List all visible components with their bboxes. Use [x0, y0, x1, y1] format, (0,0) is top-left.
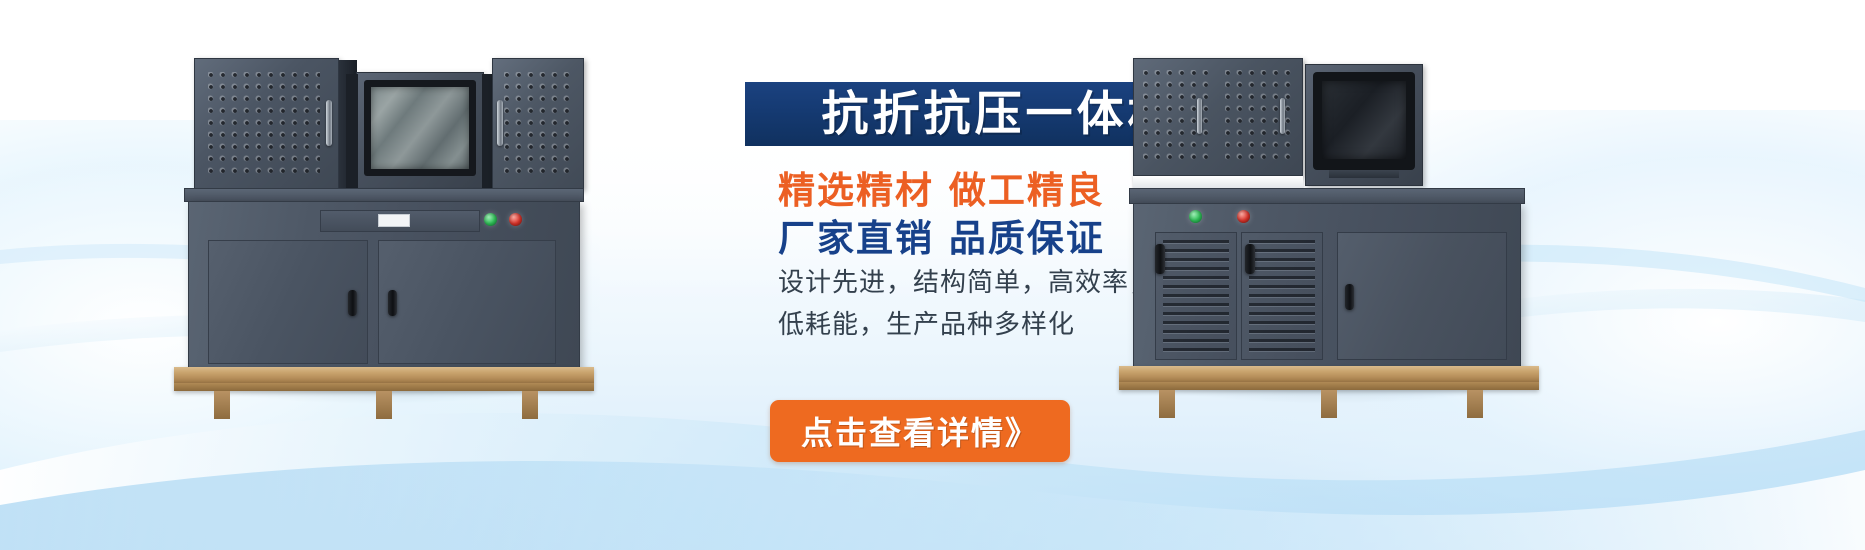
right-machine-pallet-top [1119, 366, 1539, 382]
left-machine-top-ledge [184, 188, 584, 202]
left-upper-left-perforation [208, 72, 320, 176]
right-machine-vent-door-right-handle [1245, 244, 1255, 274]
left-machine-lower-door-right [378, 240, 556, 364]
left-machine-pallet-leg-3 [522, 391, 538, 419]
left-machine-control-label [378, 214, 410, 227]
product-image-right [1115, 44, 1545, 424]
right-machine-worktop-strip [1133, 176, 1303, 188]
view-details-button[interactable]: 点击查看详情》 [770, 400, 1070, 462]
right-machine-green-indicator [1189, 210, 1202, 223]
right-machine-pallet-leg-2 [1321, 390, 1337, 418]
right-vent-right-louvres [1249, 240, 1315, 352]
right-upper-right-handle [1280, 98, 1285, 134]
promo-banner: 抗折抗压一体机 精选精材 做工精良 厂家直销 品质保证 设计先进，结构简单，高效… [0, 0, 1865, 550]
right-machine-pallet-leg-1 [1159, 390, 1175, 418]
left-machine-monitor-gap [346, 74, 358, 190]
left-machine-pallet-leg-1 [214, 391, 230, 419]
left-machine-monitor-screen [371, 87, 469, 169]
left-machine-lower-door-right-handle [388, 290, 397, 316]
left-upper-right-perforation [504, 72, 572, 176]
right-machine-red-indicator [1237, 210, 1250, 223]
product-image-left [160, 44, 590, 424]
left-machine-lower-door-left-handle [348, 290, 357, 316]
right-machine-vent-door-left-handle [1155, 244, 1165, 274]
left-upper-right-handle [497, 100, 503, 146]
right-machine-monitor-screen [1322, 81, 1406, 159]
right-machine-pallet-leg-3 [1467, 390, 1483, 418]
right-vent-left-louvres [1163, 240, 1229, 352]
right-upper-left-handle [1197, 98, 1202, 134]
left-machine-pallet-mid [174, 383, 594, 391]
left-machine-lower-door-left [208, 240, 368, 364]
right-machine-lower-door-handle [1345, 284, 1354, 310]
left-machine-pallet-top [174, 367, 594, 383]
left-machine-red-indicator [509, 213, 522, 226]
right-machine-pallet-mid [1119, 382, 1539, 390]
right-machine-top-ledge [1129, 188, 1525, 204]
left-machine-green-indicator [484, 213, 497, 226]
left-machine-pallet-leg-2 [376, 391, 392, 419]
right-machine-lower-door [1337, 232, 1507, 360]
view-details-label: 点击查看详情》 [801, 408, 1039, 454]
right-machine-monitor-base [1329, 170, 1399, 178]
left-upper-left-handle [326, 100, 332, 146]
